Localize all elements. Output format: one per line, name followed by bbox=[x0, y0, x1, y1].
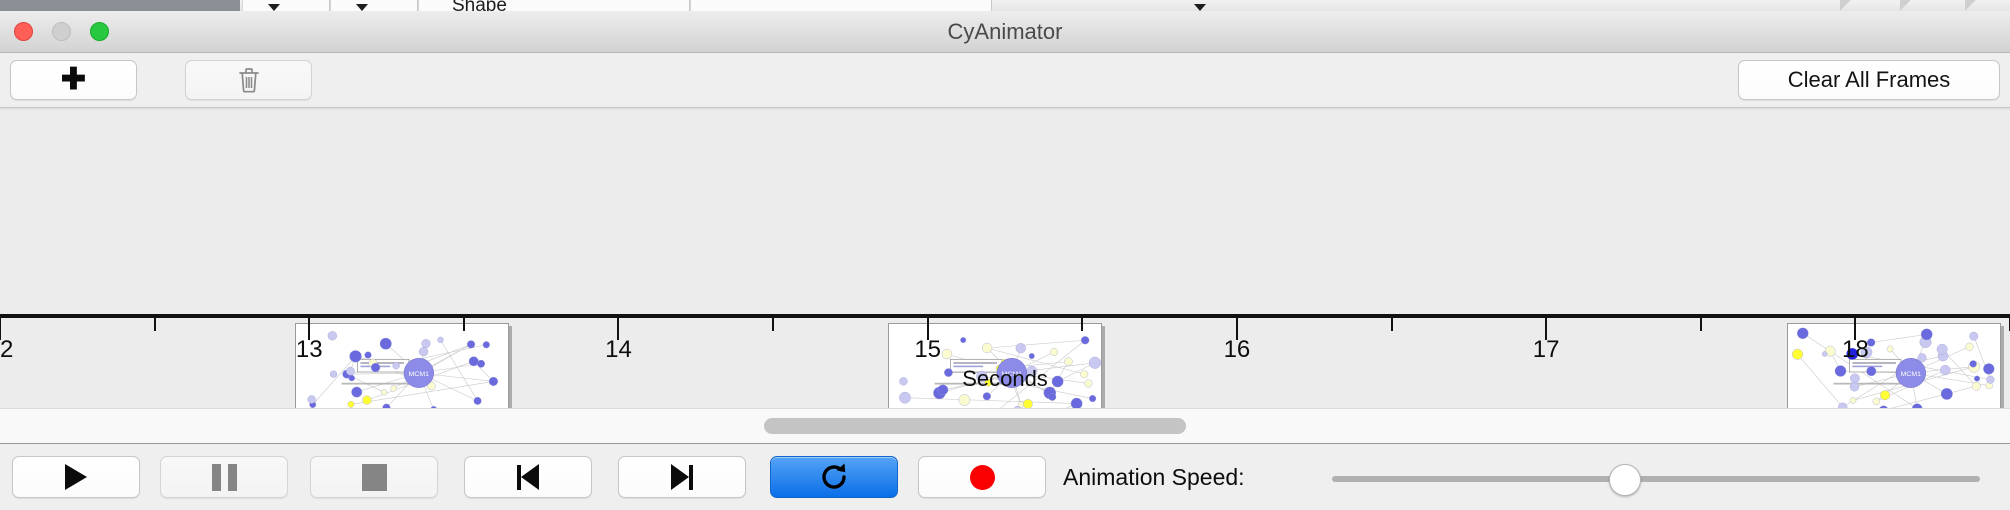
animation-speed-slider-thumb[interactable] bbox=[1609, 464, 1641, 496]
frame-toolbar: ✚ Clear All Frames bbox=[0, 53, 2010, 108]
axis-tick-label: 17 bbox=[1533, 336, 1560, 364]
axis-tick-label: 14 bbox=[605, 336, 632, 364]
background-caret-icon bbox=[1194, 4, 1206, 11]
next-frame-button[interactable] bbox=[618, 456, 746, 498]
animation-speed-label: Animation Speed: bbox=[1063, 444, 1245, 510]
prev-frame-button[interactable] bbox=[464, 456, 592, 498]
timeline-axis bbox=[0, 314, 2010, 318]
play-button[interactable] bbox=[12, 456, 140, 498]
axis-tick-minor bbox=[772, 318, 774, 331]
axis-caption: Seconds bbox=[0, 366, 2010, 392]
background-caret-icon bbox=[356, 4, 368, 11]
pause-button[interactable] bbox=[160, 456, 288, 498]
skip-back-icon bbox=[517, 464, 539, 490]
skip-forward-icon bbox=[671, 464, 693, 490]
timeline-panel[interactable]: MCM1MCM1MCM1 12131415161718 Seconds bbox=[0, 108, 2010, 408]
timeline-scrollbar[interactable] bbox=[0, 408, 2010, 444]
timeline-top-divider bbox=[0, 108, 2010, 110]
playback-toolbar: Animation Speed: bbox=[0, 444, 2010, 510]
window-title: CyAnimator bbox=[0, 11, 2010, 53]
delete-frame-button[interactable] bbox=[185, 60, 312, 100]
stop-button[interactable] bbox=[310, 456, 438, 498]
loop-icon bbox=[817, 460, 851, 494]
plus-icon: ✚ bbox=[61, 65, 86, 95]
clear-all-frames-label: Clear All Frames bbox=[1788, 67, 1951, 93]
axis-tick-minor bbox=[1700, 318, 1702, 331]
record-icon bbox=[970, 465, 995, 490]
animation-speed-slider[interactable] bbox=[1332, 476, 1980, 482]
play-icon bbox=[65, 464, 87, 490]
axis-tick-minor bbox=[1081, 318, 1083, 331]
cyanimator-window: Shape CyAnimator ✚ Clear All Frames bbox=[0, 0, 2010, 510]
axis-tick-label: 12 bbox=[0, 336, 13, 364]
axis-tick-minor bbox=[1391, 318, 1393, 331]
add-frame-button[interactable]: ✚ bbox=[10, 60, 137, 100]
clear-all-frames-button[interactable]: Clear All Frames bbox=[1738, 60, 2000, 100]
trash-icon bbox=[237, 66, 261, 94]
timeline-scrollbar-thumb[interactable] bbox=[764, 418, 1186, 434]
background-caret-icon bbox=[268, 4, 280, 11]
title-bar: CyAnimator bbox=[0, 11, 2010, 53]
axis-tick-minor bbox=[463, 318, 465, 331]
axis-tick-label: 18 bbox=[1842, 336, 1869, 364]
loop-button[interactable] bbox=[770, 456, 898, 498]
pause-icon bbox=[212, 464, 237, 491]
axis-tick-label: 16 bbox=[1224, 336, 1251, 364]
axis-tick-minor bbox=[154, 318, 156, 331]
stop-icon bbox=[362, 464, 387, 491]
record-button[interactable] bbox=[918, 456, 1046, 498]
axis-tick-label: 13 bbox=[296, 336, 323, 364]
axis-tick-label: 15 bbox=[914, 336, 941, 364]
